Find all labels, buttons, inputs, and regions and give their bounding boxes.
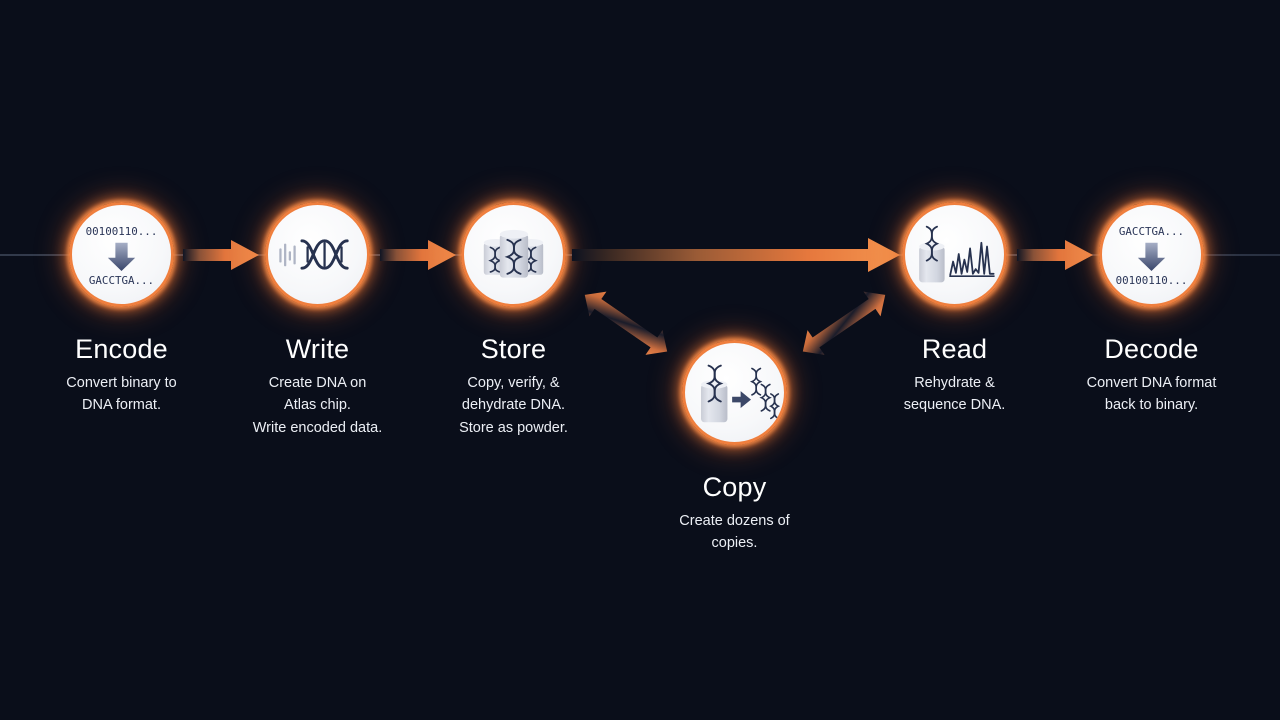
dna-copy-2-icon xyxy=(761,384,769,410)
connector-store-copy xyxy=(566,290,678,368)
chromatogram-trace-icon xyxy=(950,243,993,275)
signal-ticks-icon xyxy=(279,244,295,267)
dna-rungs-icon xyxy=(308,243,342,266)
connector-store-to-read xyxy=(572,236,902,274)
store-icon-circle[interactable] xyxy=(461,202,566,307)
copy-arrow-icon xyxy=(732,391,751,408)
connector-read-to-decode xyxy=(1017,238,1095,272)
copy-desc-line-2: copies. xyxy=(633,532,836,554)
write-description: Create DNA on Atlas chip. Write encoded … xyxy=(206,372,429,439)
arrow-right-icon xyxy=(380,238,458,272)
copy-desc-line-1: Create dozens of xyxy=(633,510,836,532)
down-arrow-icon xyxy=(1138,243,1165,271)
arrow-double-diagonal-icon xyxy=(566,290,678,368)
write-desc-line-2: Atlas chip. xyxy=(206,394,429,416)
write-desc-line-1: Create DNA on xyxy=(206,372,429,394)
dna-helix-synthesis-icon xyxy=(268,202,367,307)
decode-label: Decode xyxy=(1050,334,1253,365)
connector-write-to-store xyxy=(380,238,458,272)
decode-dna-text: GACCTGA... xyxy=(1119,225,1184,238)
dna-storage-vials-icon xyxy=(464,202,563,307)
read-description: Rehydrate & sequence DNA. xyxy=(849,372,1060,417)
read-label: Read xyxy=(853,334,1056,365)
decode-desc-line-2: back to binary. xyxy=(1042,394,1261,416)
dna-sequencing-trace-icon xyxy=(905,202,1004,307)
read-icon-circle[interactable] xyxy=(902,202,1007,307)
down-arrow-icon xyxy=(108,243,135,271)
store-desc-line-2: dehydrate DNA. xyxy=(408,394,619,416)
encode-desc-line-2: DNA format. xyxy=(20,394,223,416)
store-description: Copy, verify, & dehydrate DNA. Store as … xyxy=(408,372,619,439)
encode-label: Encode xyxy=(20,334,223,365)
decode-icon-circle[interactable]: GACCTGA... 00100110... xyxy=(1099,202,1204,307)
diagram-canvas: 00100110... GACCTGA... Encode Convert bi… xyxy=(0,0,1280,720)
arrow-right-icon xyxy=(1017,238,1095,272)
store-desc-line-3: Store as powder. xyxy=(408,417,619,439)
decode-binary-text: 00100110... xyxy=(1116,274,1188,287)
store-desc-line-1: Copy, verify, & xyxy=(408,372,619,394)
dna-copy-3-icon xyxy=(771,394,779,419)
encode-description: Convert binary to DNA format. xyxy=(20,372,223,417)
vial-center-icon xyxy=(500,230,528,278)
dna-to-binary-icon: GACCTGA... 00100110... xyxy=(1102,202,1201,307)
copy-description: Create dozens of copies. xyxy=(633,510,836,555)
binary-to-dna-icon: 00100110... GACCTGA... xyxy=(72,202,171,307)
copy-label: Copy xyxy=(633,472,836,503)
write-label: Write xyxy=(216,334,419,365)
encode-desc-line-1: Convert binary to xyxy=(20,372,223,394)
encode-icon-circle[interactable]: 00100110... GACCTGA... xyxy=(69,202,174,307)
decode-desc-line-1: Convert DNA format xyxy=(1042,372,1261,394)
arrow-right-icon xyxy=(183,238,261,272)
copy-icon-circle[interactable] xyxy=(682,340,787,445)
write-desc-line-3: Write encoded data. xyxy=(206,417,429,439)
read-desc-line-1: Rehydrate & xyxy=(849,372,1060,394)
decode-description: Convert DNA format back to binary. xyxy=(1042,372,1261,417)
write-icon-circle[interactable] xyxy=(265,202,370,307)
dna-amplification-icon xyxy=(685,340,784,445)
read-desc-line-2: sequence DNA. xyxy=(849,394,1060,416)
arrow-right-long-icon xyxy=(572,236,902,274)
dna-copy-1-icon xyxy=(752,368,760,394)
connector-encode-to-write xyxy=(183,238,261,272)
encode-dna-text: GACCTGA... xyxy=(89,274,154,287)
encode-binary-text: 00100110... xyxy=(86,225,158,238)
